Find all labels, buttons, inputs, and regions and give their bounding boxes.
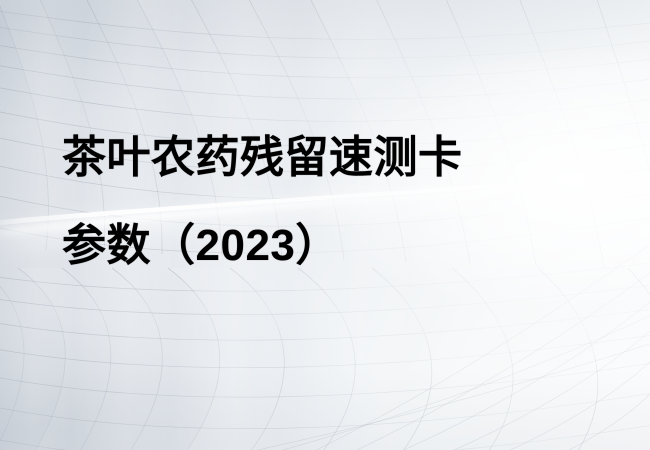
title-line-primary: 茶叶农药残留速测卡 <box>62 136 562 180</box>
title-line-secondary: 参数（2023） <box>62 224 562 268</box>
page-title: 茶叶农药残留速测卡 参数（2023） <box>62 136 562 268</box>
title-banner: 茶叶农药残留速测卡 参数（2023） <box>0 0 650 450</box>
